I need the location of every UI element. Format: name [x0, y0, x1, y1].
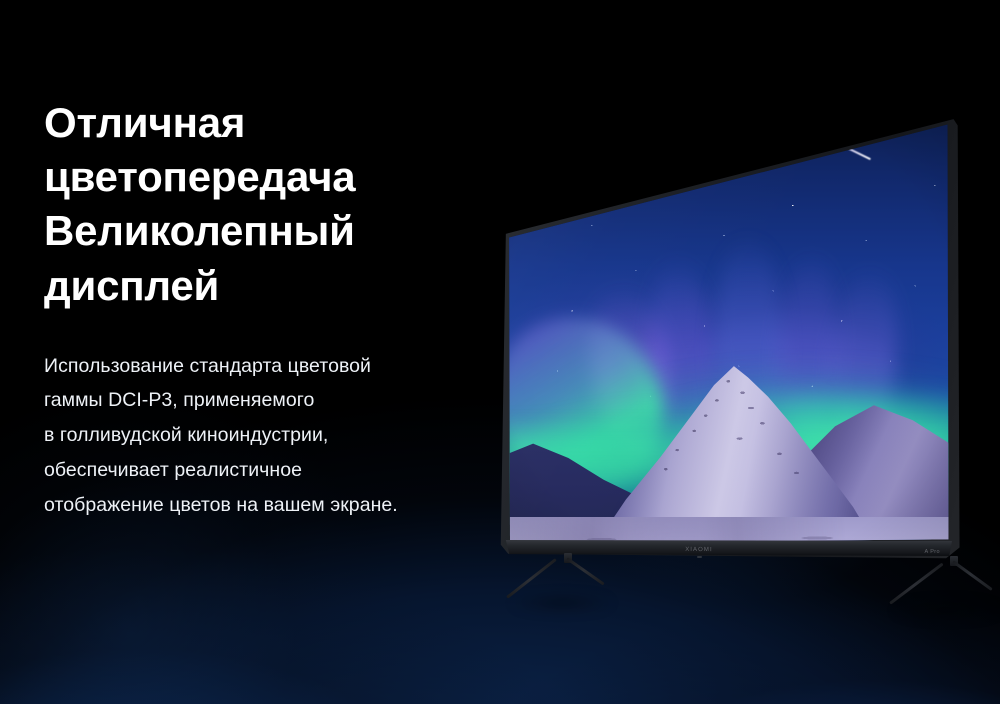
model-badge: A Pro	[906, 547, 940, 557]
copy-block: Отличная цветопередача Великолепный дисп…	[44, 96, 514, 522]
body-paragraph: Использование стандарта цветовой гаммы D…	[44, 313, 514, 523]
ir-receiver-icon	[697, 556, 702, 558]
left-leg-shadow	[492, 592, 632, 614]
promo-banner: Отличная цветопередача Великолепный дисп…	[0, 0, 1000, 704]
page-title: Отличная цветопередача Великолепный дисп…	[44, 96, 514, 313]
brand-logo: XIAOMI	[676, 546, 722, 555]
